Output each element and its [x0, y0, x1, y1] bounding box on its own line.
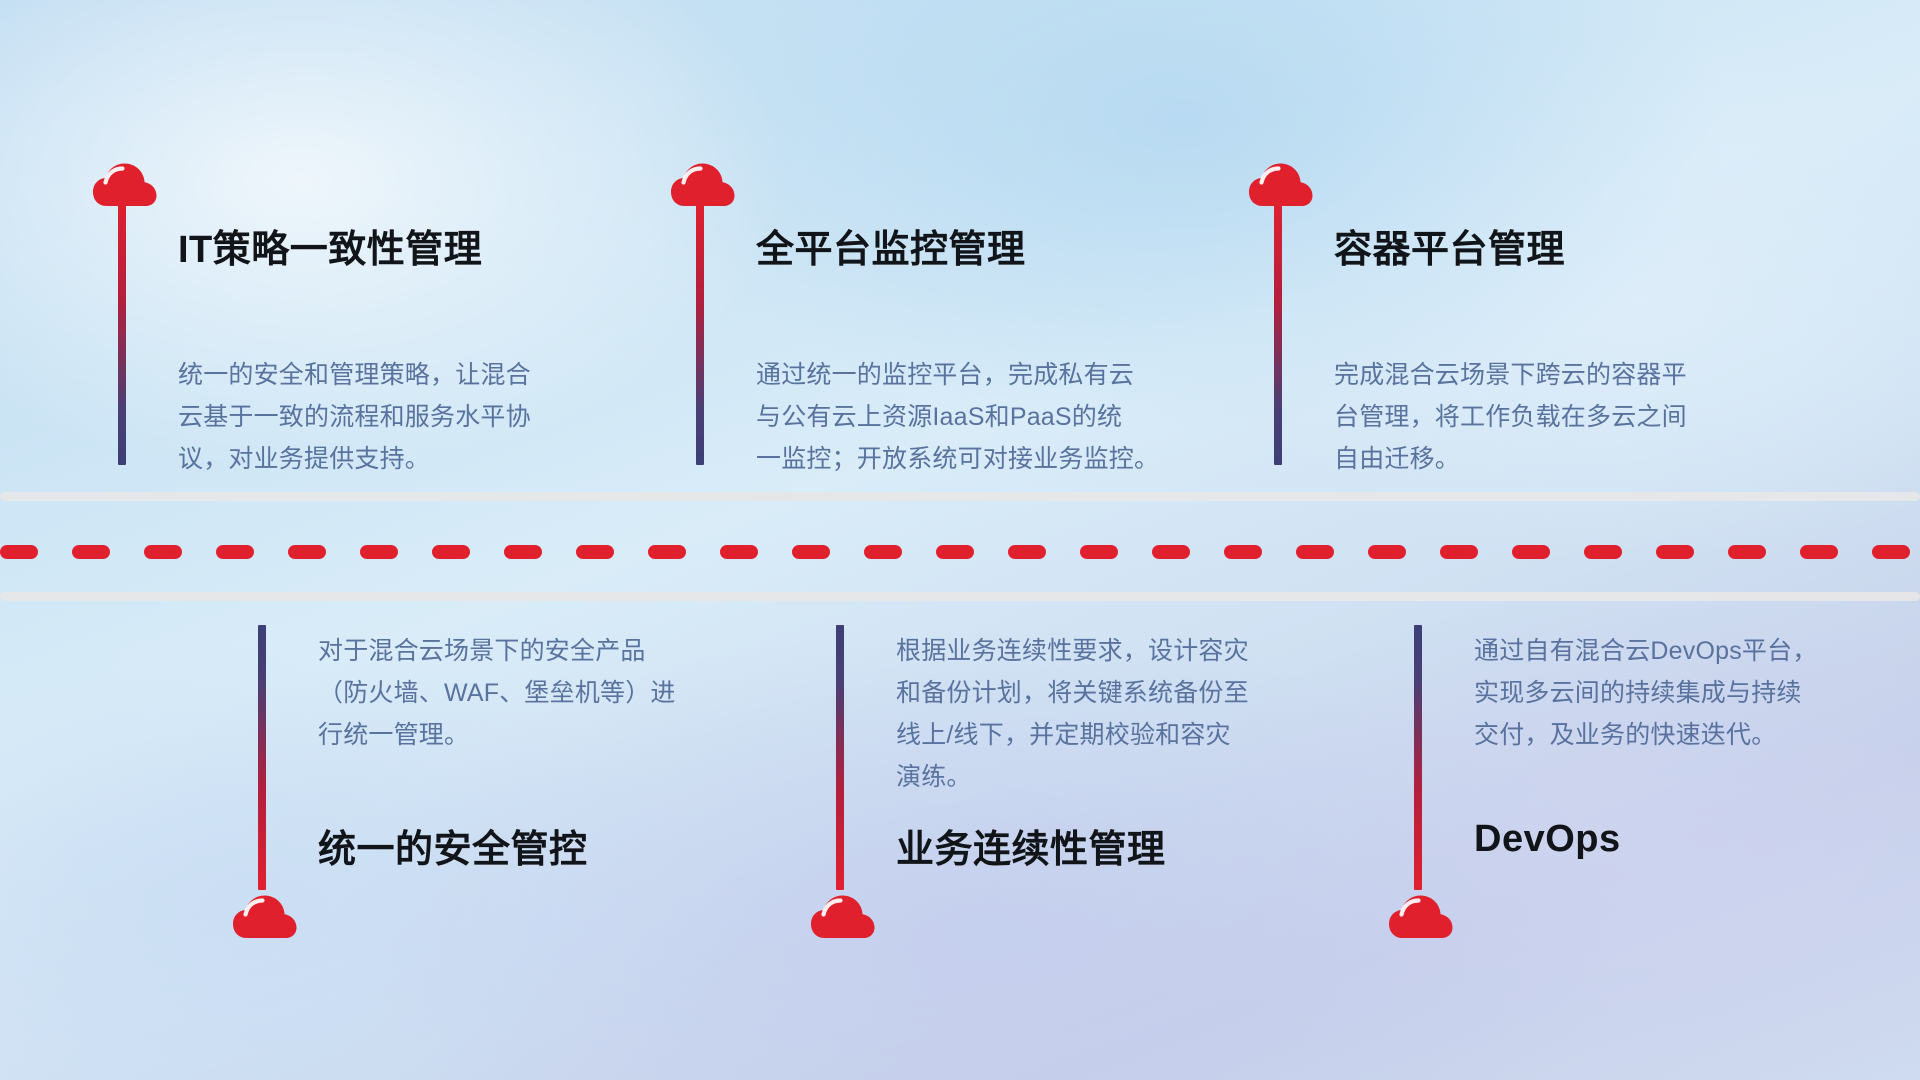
divider-dash	[1008, 545, 1046, 559]
divider-dash	[432, 545, 470, 559]
stem-line	[258, 625, 266, 890]
divider-dash	[1584, 545, 1622, 559]
card-body: 统一的安全和管理策略，让混合 云基于一致的流程和服务水平协 议，对业务提供支持。	[178, 354, 608, 480]
divider-dash	[288, 545, 326, 559]
divider-dash	[576, 545, 614, 559]
divider-dash	[792, 545, 830, 559]
divider-dash	[1296, 545, 1334, 559]
divider-dash	[1152, 545, 1190, 559]
stem-line	[696, 200, 704, 465]
divider-dash	[216, 545, 254, 559]
divider-dash	[1512, 545, 1550, 559]
stem-line	[1414, 625, 1422, 890]
infographic-canvas: IT策略一致性管理 统一的安全和管理策略，让混合 云基于一致的流程和服务水平协 …	[0, 0, 1920, 1080]
divider-dash	[1728, 545, 1766, 559]
card-title: 容器平台管理	[1334, 218, 1565, 273]
divider-dash	[144, 545, 182, 559]
stem-line	[836, 625, 844, 890]
card-body: 通过统一的监控平台，完成私有云 与公有云上资源IaaS和PaaS的统 一监控；开…	[756, 354, 1206, 480]
divider-dash	[864, 545, 902, 559]
divider-dash	[1800, 545, 1838, 559]
card-title: DevOps	[1474, 818, 1621, 861]
card-title: IT策略一致性管理	[178, 218, 482, 273]
card-body: 通过自有混合云DevOps平台， 实现多云间的持续集成与持续 交付，及业务的快速…	[1474, 630, 1914, 756]
divider-dash	[360, 545, 398, 559]
divider-dash	[936, 545, 974, 559]
divider-line-bottom	[0, 592, 1920, 601]
cloud-icon	[232, 890, 298, 940]
dashed-road-divider	[0, 545, 1920, 559]
divider-dash	[0, 545, 38, 559]
cloud-icon	[810, 890, 876, 940]
divider-dash	[1368, 545, 1406, 559]
card-body: 完成混合云场景下跨云的容器平 台管理，将工作负载在多云之间 自由迁移。	[1334, 354, 1774, 480]
stem-line	[118, 200, 126, 465]
card-title: 业务连续性管理	[896, 818, 1166, 873]
divider-dash	[1872, 545, 1910, 559]
divider-dash	[72, 545, 110, 559]
divider-line-top	[0, 492, 1920, 501]
card-body: 对于混合云场景下的安全产品 （防火墙、WAF、堡垒机等）进 行统一管理。	[318, 630, 748, 756]
divider-dash	[720, 545, 758, 559]
cloud-icon	[1388, 890, 1454, 940]
card-title: 全平台监控管理	[756, 218, 1026, 273]
divider-dash	[1656, 545, 1694, 559]
divider-dash	[648, 545, 686, 559]
divider-dash	[504, 545, 542, 559]
stem-line	[1274, 200, 1282, 465]
card-body: 根据业务连续性要求，设计容灾 和备份计划，将关键系统备份至 线上/线下，并定期校…	[896, 630, 1336, 798]
divider-dash	[1440, 545, 1478, 559]
divider-dash	[1080, 545, 1118, 559]
divider-dash	[1224, 545, 1262, 559]
card-title: 统一的安全管控	[318, 818, 588, 873]
